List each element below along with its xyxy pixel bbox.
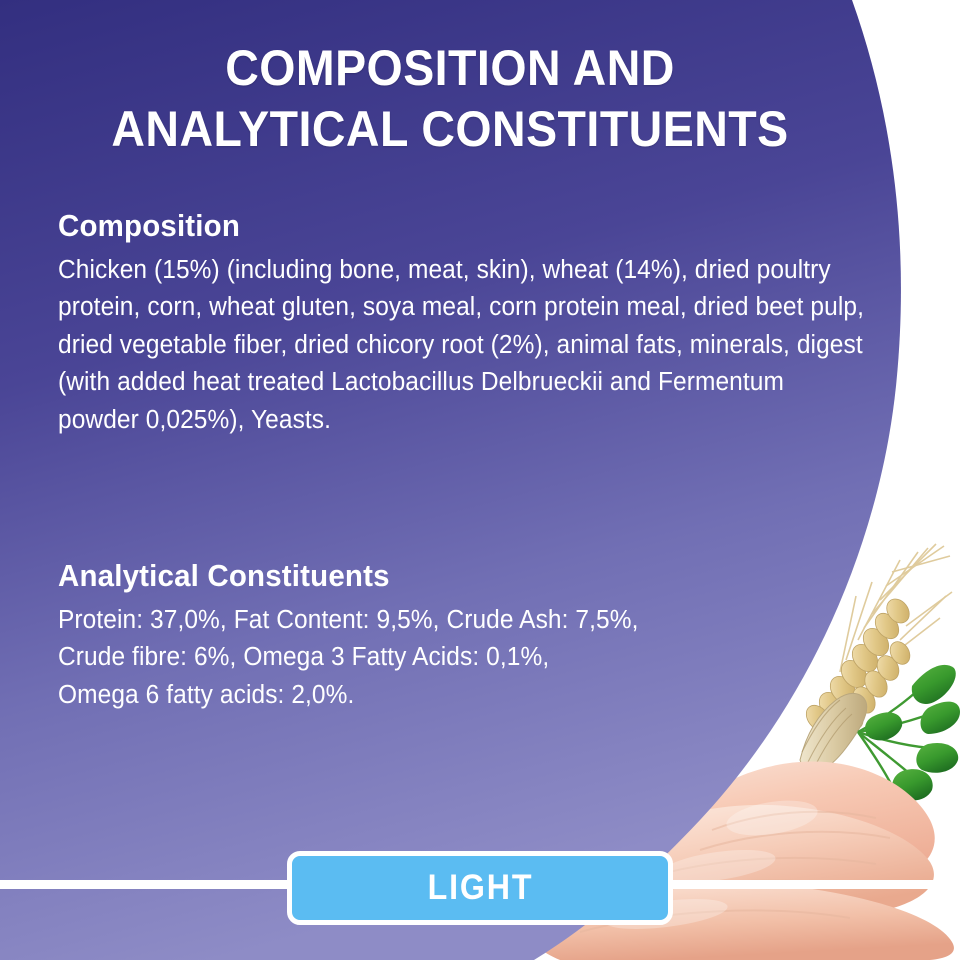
analytical-constituents-section: Analytical Constituents Protein: 37,0%, …: [58, 558, 878, 714]
light-badge[interactable]: LIGHT: [287, 851, 673, 925]
analytical-line-1: Protein: 37,0%, Fat Content: 9,5%, Crude…: [58, 602, 730, 639]
page-title: COMPOSITION AND ANALYTICAL CONSTITUENTS: [32, 38, 869, 160]
page-title-line-1: COMPOSITION AND: [32, 38, 869, 99]
light-badge-label: LIGHT: [427, 868, 533, 908]
composition-section: Composition Chicken (15%) (including bon…: [58, 208, 878, 439]
bottom-rule-left: [0, 880, 300, 889]
composition-text: Chicken (15%) (including bone, meat, ski…: [58, 252, 869, 439]
product-info-panel: COMPOSITION AND ANALYTICAL CONSTITUENTS …: [0, 0, 960, 960]
analytical-heading: Analytical Constituents: [58, 558, 837, 594]
page-title-line-2: ANALYTICAL CONSTITUENTS: [32, 99, 869, 160]
analytical-line-3: Omega 6 fatty acids: 2,0%.: [58, 677, 730, 714]
panel-content: COMPOSITION AND ANALYTICAL CONSTITUENTS …: [0, 0, 960, 960]
composition-heading: Composition: [58, 208, 837, 244]
bottom-rule-right: [662, 880, 960, 889]
analytical-line-2: Crude fibre: 6%, Omega 3 Fatty Acids: 0,…: [58, 639, 730, 676]
